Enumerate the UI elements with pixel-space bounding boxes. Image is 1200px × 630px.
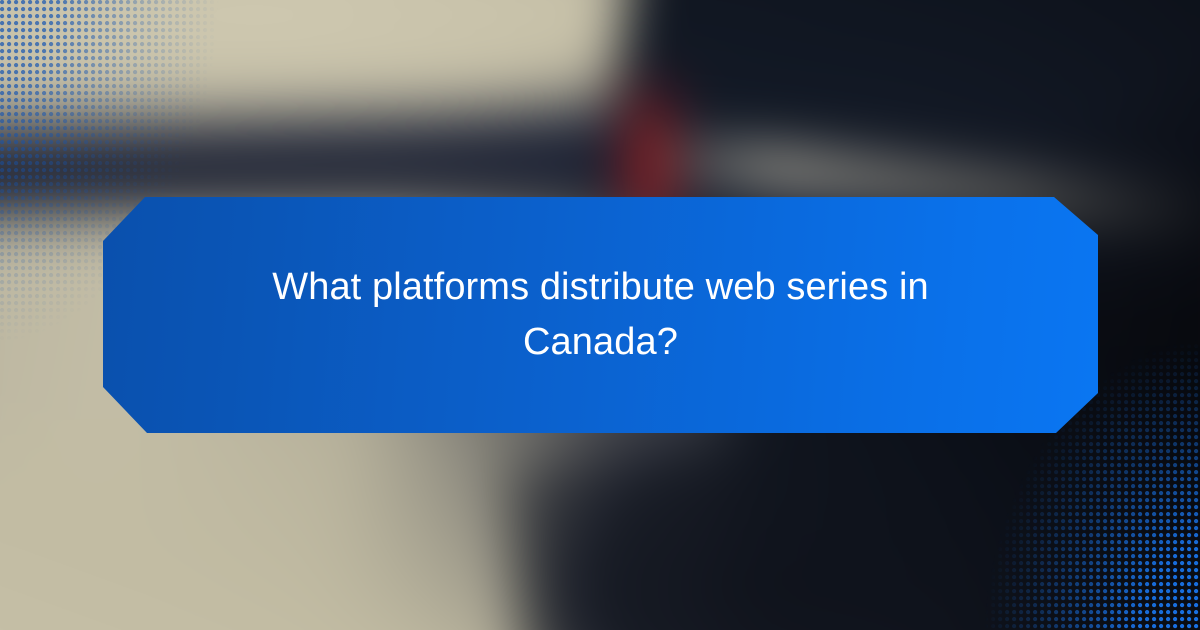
headline-text: What platforms distribute web series in …: [155, 260, 1047, 371]
og-card-canvas: What platforms distribute web series in …: [0, 0, 1200, 630]
headline-banner: What platforms distribute web series in …: [103, 197, 1098, 433]
